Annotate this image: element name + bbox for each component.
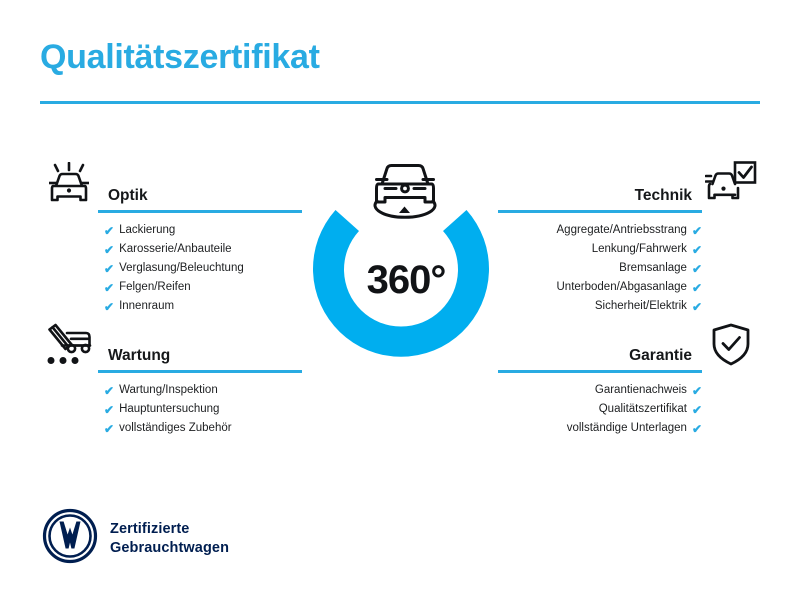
list-item: Qualitätszertifikat✔: [498, 401, 702, 420]
ring-shape: [313, 210, 489, 357]
list-item-label: vollständige Unterlagen: [567, 423, 687, 435]
list-item: Lenkung/Fahrwerk✔: [498, 241, 702, 260]
list-item-label: Sicherheit/Elektrik: [595, 301, 687, 313]
check-icon: ✔: [104, 244, 114, 256]
section-garantie: Garantie Garantienachweis✔ Qualitätszert…: [498, 326, 760, 439]
list-item-label: Garantienachweis: [595, 385, 687, 397]
list-item: Garantienachweis✔: [498, 382, 702, 401]
section-title: Optik: [98, 187, 302, 208]
badge-360-gebrauchtwagen-check: Gebrauchtwagen-Check 360°: [295, 155, 515, 370]
section-header: Optik: [40, 166, 302, 208]
check-icon: ✔: [692, 301, 702, 313]
check-icon: ✔: [692, 404, 702, 416]
list-item: Sicherheit/Elektrik✔: [498, 298, 702, 317]
car-checkbox-icon: [702, 160, 760, 208]
section-header: Garantie: [498, 326, 760, 368]
certificate-page: Qualitätszertifikat: [0, 0, 800, 600]
check-icon: ✔: [692, 244, 702, 256]
section-technik: Technik Aggregate/Antriebsstrang✔ Lenkun…: [498, 166, 760, 317]
check-icon: ✔: [692, 263, 702, 275]
section-header: Wartung: [40, 326, 302, 368]
list-item: ✔Felgen/Reifen: [104, 279, 302, 298]
list-item: ✔Lackierung: [104, 222, 302, 241]
shield-check-icon: [702, 320, 760, 368]
car-shine-icon: [40, 160, 98, 208]
check-icon: ✔: [104, 385, 114, 397]
list-item-label: Lenkung/Fahrwerk: [592, 244, 687, 256]
section-wartung: Wartung ✔Wartung/Inspektion ✔Hauptunters…: [40, 326, 302, 439]
section-title: Technik: [498, 187, 702, 208]
footer-brand: Zertifizierte Gebrauchtwagen: [42, 508, 229, 569]
list-item-label: Aggregate/Antriebsstrang: [557, 225, 687, 237]
list-item: ✔Wartung/Inspektion: [104, 382, 302, 401]
list-item-label: Verglasung/Beleuchtung: [119, 263, 244, 275]
check-icon: ✔: [104, 423, 114, 435]
list-item: Bremsanlage✔: [498, 260, 702, 279]
checklist-technik: Aggregate/Antriebsstrang✔ Lenkung/Fahrwe…: [498, 213, 702, 317]
footer-text: Zertifizierte Gebrauchtwagen: [110, 520, 229, 556]
list-item: ✔Karosserie/Anbauteile: [104, 241, 302, 260]
list-item-label: Lackierung: [119, 225, 175, 237]
footer-line-2: Gebrauchtwagen: [110, 539, 229, 557]
checklist-wartung: ✔Wartung/Inspektion ✔Hauptuntersuchung ✔…: [98, 373, 302, 439]
volkswagen-logo: [42, 508, 98, 569]
section-title: Garantie: [498, 347, 702, 368]
check-icon: ✔: [692, 385, 702, 397]
car-rotate-icon: [375, 166, 435, 218]
check-icon: ✔: [104, 404, 114, 416]
list-item-label: Innenraum: [119, 301, 174, 313]
list-item-label: Wartung/Inspektion: [119, 385, 218, 397]
check-icon: ✔: [692, 225, 702, 237]
list-item: vollständige Unterlagen✔: [498, 420, 702, 439]
check-icon: ✔: [692, 282, 702, 294]
title-divider: [40, 101, 760, 104]
list-item-label: Felgen/Reifen: [119, 282, 191, 294]
list-item-label: Qualitätszertifikat: [599, 404, 687, 416]
checklist-garantie: Garantienachweis✔ Qualitätszertifikat✔ v…: [498, 373, 702, 439]
list-item-label: vollständiges Zubehör: [119, 423, 232, 435]
check-icon: ✔: [104, 263, 114, 275]
section-optik: Optik ✔Lackierung ✔Karosserie/Anbauteile…: [40, 166, 302, 317]
list-item: ✔Hauptuntersuchung: [104, 401, 302, 420]
list-item: ✔Innenraum: [104, 298, 302, 317]
check-icon: ✔: [104, 282, 114, 294]
list-item: Aggregate/Antriebsstrang✔: [498, 222, 702, 241]
checklist-optik: ✔Lackierung ✔Karosserie/Anbauteile ✔Verg…: [98, 213, 302, 317]
check-icon: ✔: [104, 301, 114, 313]
check-icon: ✔: [104, 225, 114, 237]
list-item: ✔vollständiges Zubehör: [104, 420, 302, 439]
footer-line-1: Zertifizierte: [110, 520, 229, 538]
section-title: Wartung: [98, 347, 302, 368]
list-item-label: Bremsanlage: [619, 263, 687, 275]
car-service-pen-icon: [40, 320, 98, 368]
section-header: Technik: [498, 166, 760, 208]
list-item-label: Karosserie/Anbauteile: [119, 244, 232, 256]
page-title: Qualitätszertifikat: [40, 40, 320, 74]
list-item: ✔Verglasung/Beleuchtung: [104, 260, 302, 279]
list-item: Unterboden/Abgasanlage✔: [498, 279, 702, 298]
check-icon: ✔: [692, 423, 702, 435]
list-item-label: Hauptuntersuchung: [119, 404, 219, 416]
list-item-label: Unterboden/Abgasanlage: [557, 282, 687, 294]
